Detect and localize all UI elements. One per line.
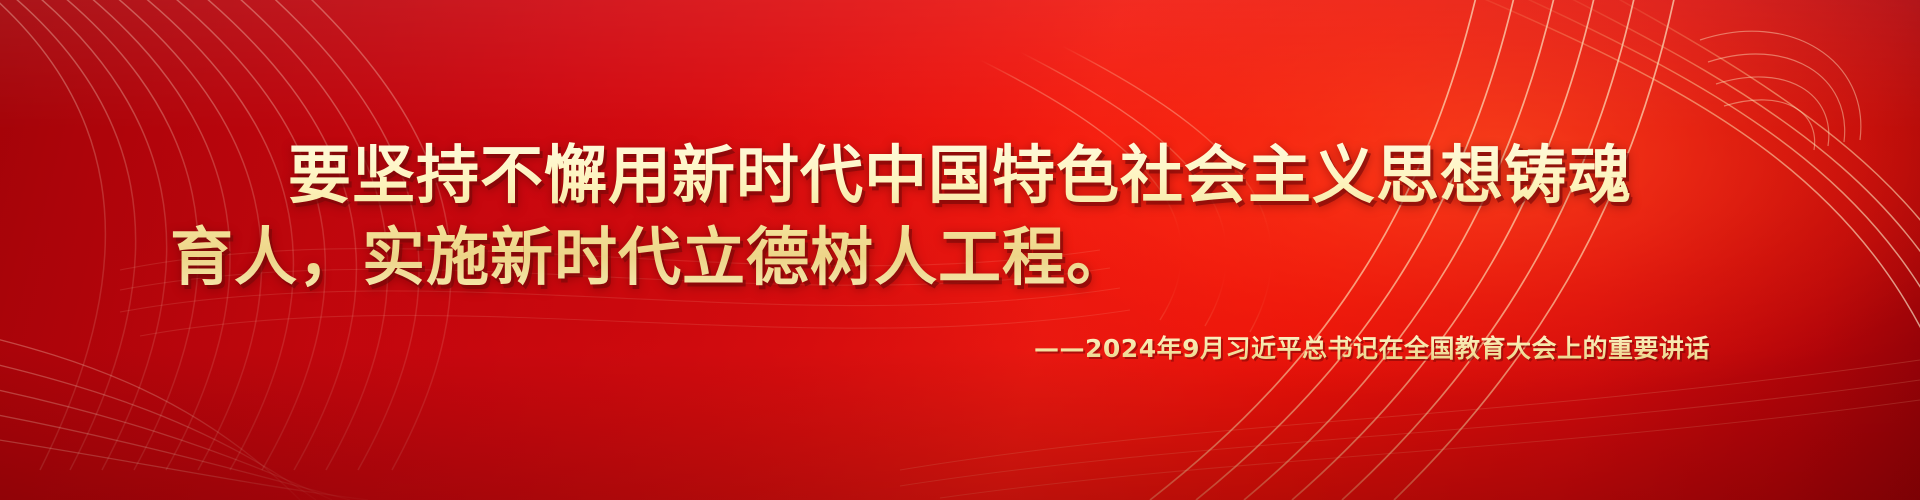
- banner-attribution: ——2024年9月习近平总书记在全国教育大会上的重要讲话: [60, 329, 1860, 365]
- headline-line-1: 要坚持不懈用新时代中国特色社会主义思想铸魂: [60, 135, 1860, 217]
- banner-content: 要坚持不懈用新时代中国特色社会主义思想铸魂 育人，实施新时代立德树人工程。 ——…: [0, 0, 1920, 500]
- propaganda-banner: 要坚持不懈用新时代中国特色社会主义思想铸魂 育人，实施新时代立德树人工程。 ——…: [0, 0, 1920, 500]
- banner-headline: 要坚持不懈用新时代中国特色社会主义思想铸魂 育人，实施新时代立德树人工程。: [60, 135, 1860, 299]
- headline-line-2: 育人，实施新时代立德树人工程。: [60, 217, 1860, 299]
